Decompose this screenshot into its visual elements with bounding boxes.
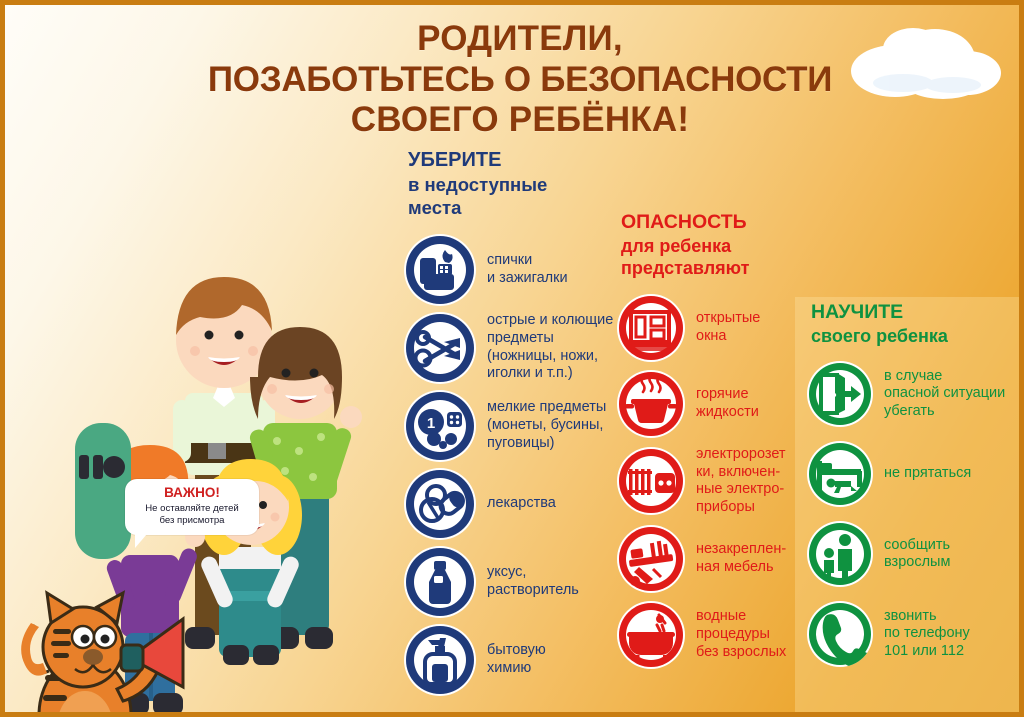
coins-buttons-icon: 1 xyxy=(404,390,476,462)
list-item-text: уксус,растворитель xyxy=(487,564,579,599)
list-item[interactable]: острые и колющиепредметы(ножницы, ножи,и… xyxy=(404,312,619,384)
list-item[interactable]: уксус,растворитель xyxy=(404,546,619,618)
column-teach-subtitle: своего ребенка xyxy=(811,326,948,346)
open-window-icon xyxy=(617,294,685,362)
list-item[interactable]: спичкии зажигалки xyxy=(404,234,619,306)
socket-heater-icon xyxy=(617,447,685,515)
list-item-text: горячиежидкости xyxy=(696,386,759,421)
lighter-icon xyxy=(404,234,476,306)
list-item-text: спичкии зажигалки xyxy=(487,252,568,287)
list-item[interactable]: горячиежидкости xyxy=(617,370,817,438)
list-item-text: в случаеопасной ситуацииубегать xyxy=(884,368,1005,421)
column-teach-header: НАУЧИТЕ своего ребенка xyxy=(811,300,1022,347)
list-item-text: мелкие предметы(монеты, бусины,пуговицы) xyxy=(487,399,606,452)
title-line-2: ПОЗАБОТЬТЕСЬ О БЕЗОПАСНОСТИ xyxy=(125,60,915,101)
hot-pot-icon xyxy=(617,370,685,438)
column-danger-subtitle-2: представляют xyxy=(621,258,749,278)
column-teach-title: НАУЧИТЕ xyxy=(811,300,1022,325)
list-item-text: водныепроцедурыбез взрослых xyxy=(696,608,786,661)
list-item[interactable]: звонитьпо телефону101 или 112 xyxy=(807,601,1022,667)
no-hiding-bed-icon xyxy=(807,441,873,507)
list-item-text: открытыеокна xyxy=(696,310,760,345)
list-item-text: лекарства xyxy=(487,495,556,513)
list-item-text: бытовуюхимию xyxy=(487,642,546,677)
list-item[interactable]: не прятаться xyxy=(807,441,1022,507)
list-item-text: острые и колющиепредметы(ножницы, ножи,и… xyxy=(487,312,613,383)
column-remove-header: УБЕРИТЕ в недоступные места xyxy=(408,148,619,220)
list-item[interactable]: электророзетки, включен-ные электро-приб… xyxy=(617,446,817,517)
scissors-icon xyxy=(404,312,476,384)
exit-door-icon xyxy=(807,361,873,427)
column-remove-title: УБЕРИТЕ xyxy=(408,148,619,173)
pills-icon xyxy=(404,468,476,540)
column-remove-subtitle-1: в недоступные xyxy=(408,174,547,195)
list-item[interactable]: 1 мелкие предметы(монеты, бусины,пуговиц… xyxy=(404,390,619,462)
column-remove: УБЕРИТЕ в недоступные места спичкии зажи… xyxy=(404,148,619,702)
list-item[interactable]: лекарства xyxy=(404,468,619,540)
bottle-icon xyxy=(404,546,476,618)
list-item[interactable]: незакреплен-ная мебель xyxy=(617,525,817,593)
column-danger: ОПАСНОСТЬ для ребенка представляют откры… xyxy=(617,210,817,677)
list-item[interactable]: в случаеопасной ситуацииубегать xyxy=(807,361,1022,427)
callout-heading: ВАЖНО! xyxy=(133,486,251,501)
list-item[interactable]: сообщитьвзрослым xyxy=(807,521,1022,587)
spray-bottle-icon xyxy=(404,624,476,696)
list-item-text: звонитьпо телефону101 или 112 xyxy=(884,608,970,661)
bathtub-icon xyxy=(617,601,685,669)
phone-icon xyxy=(807,601,873,667)
list-item[interactable]: открытыеокна xyxy=(617,294,817,362)
column-danger-subtitle-1: для ребенка xyxy=(621,236,731,256)
page-title: РОДИТЕЛИ, ПОЗАБОТЬТЕСЬ О БЕЗОПАСНОСТИ СВ… xyxy=(125,19,915,141)
title-line-3: СВОЕГО РЕБЁНКА! xyxy=(125,100,915,141)
callout-body: Не оставляйте детейбез присмотра xyxy=(133,503,251,527)
column-danger-title: ОПАСНОСТЬ xyxy=(621,210,817,235)
list-item-text: сообщитьвзрослым xyxy=(884,537,950,572)
falling-furniture-icon xyxy=(617,525,685,593)
list-item-text: не прятаться xyxy=(884,465,971,483)
list-item[interactable]: водныепроцедурыбез взрослых xyxy=(617,601,817,669)
column-teach: НАУЧИТЕ своего ребенка в случаеопасной с… xyxy=(807,300,1022,681)
important-callout-bubble: ВАЖНО! Не оставляйте детейбез присмотра xyxy=(125,479,259,535)
safety-poster: РОДИТЕЛИ, ПОЗАБОТЬТЕСЬ О БЕЗОПАСНОСТИ СВ… xyxy=(0,0,1024,717)
svg-text:1: 1 xyxy=(427,415,435,432)
title-line-1: РОДИТЕЛИ, xyxy=(125,19,915,60)
list-item-text: незакреплен-ная мебель xyxy=(696,541,786,576)
tell-adult-icon xyxy=(807,521,873,587)
skateboard xyxy=(75,423,131,559)
list-item-text: электророзетки, включен-ные электро-приб… xyxy=(696,446,786,517)
list-item[interactable]: бытовуюхимию xyxy=(404,624,619,696)
family-illustration xyxy=(13,155,413,715)
column-danger-header: ОПАСНОСТЬ для ребенка представляют xyxy=(621,210,817,280)
column-remove-subtitle-2: места xyxy=(408,197,461,218)
